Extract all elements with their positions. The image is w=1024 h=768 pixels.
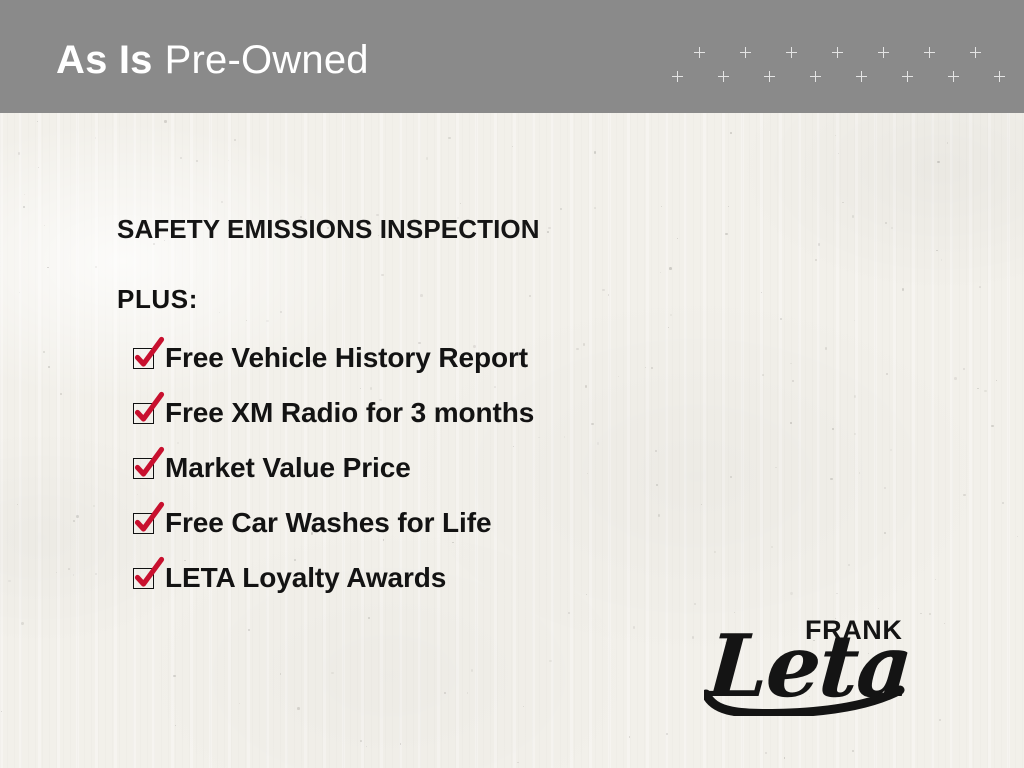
plus-subheading: PLUS:	[117, 284, 198, 315]
frank-leta-logo: Leta FRANK	[700, 606, 915, 718]
checkbox-checked-icon[interactable]	[133, 458, 154, 479]
checklist-item-label: LETA Loyalty Awards	[165, 561, 446, 595]
checklist-item-label: Free Vehicle History Report	[165, 341, 528, 375]
checkbox-checked-icon[interactable]	[133, 403, 154, 424]
benefits-checklist: Free Vehicle History ReportFree XM Radio…	[133, 341, 534, 616]
checklist-item[interactable]: Free XM Radio for 3 months	[133, 396, 534, 451]
checklist-item[interactable]: Free Car Washes for Life	[133, 506, 534, 561]
checklist-item[interactable]: LETA Loyalty Awards	[133, 561, 534, 616]
checklist-item[interactable]: Free Vehicle History Report	[133, 341, 534, 396]
logo-top-text: FRANK	[805, 617, 903, 644]
checklist-item-label: Market Value Price	[165, 451, 411, 485]
checkbox-checked-icon[interactable]	[133, 348, 154, 369]
slide-canvas: As IsPre-Owned SAFETY EMISSIONS INSPECTI…	[0, 0, 1024, 768]
checkbox-checked-icon[interactable]	[133, 513, 154, 534]
checklist-item[interactable]: Market Value Price	[133, 451, 534, 506]
section-heading: SAFETY EMISSIONS INSPECTION	[117, 214, 540, 245]
checkbox-checked-icon[interactable]	[133, 568, 154, 589]
checklist-item-label: Free Car Washes for Life	[165, 506, 491, 540]
checklist-item-label: Free XM Radio for 3 months	[165, 396, 534, 430]
